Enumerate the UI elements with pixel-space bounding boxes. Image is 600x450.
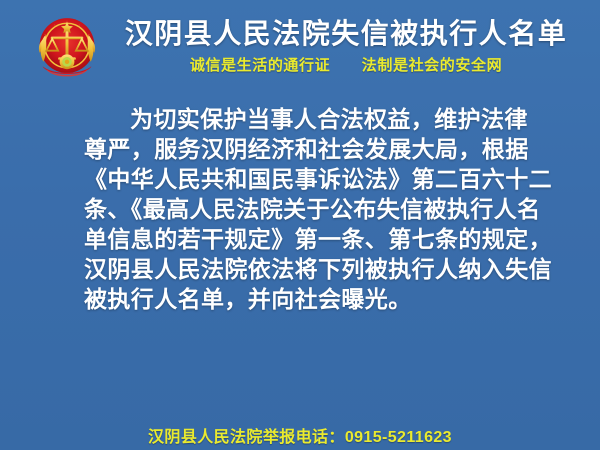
poster-footer: 汉阴县人民法院举报电话：0915-5211623	[0, 426, 600, 450]
body-line: 被执行人名单，并向社会曝光。	[84, 284, 536, 314]
body-line: 汉阴县人民法院依法将下列被执行人纳入失信	[84, 254, 536, 284]
court-emblem	[28, 8, 106, 86]
subtitle-left: 诚信是生活的通行证	[190, 57, 330, 74]
china-court-emblem-icon	[30, 10, 104, 84]
body-line: 尊严，服务汉阴经济和社会发展大局，根据	[84, 134, 536, 164]
body-line: 单信息的若干规定》第一条、第七条的规定，	[84, 224, 536, 254]
notice-poster: 汉阴县人民法院失信被执行人名单 诚信是生活的通行证 法制是社会的安全网 为切实保…	[0, 0, 600, 450]
report-hotline: 汉阴县人民法院举报电话：0915-5211623	[0, 426, 600, 450]
subtitle-right: 法制是社会的安全网	[362, 57, 502, 74]
body-line: 条、《最高人民法院关于公布失信被执行人名	[84, 194, 536, 224]
body-line: 《中华人民共和国民事诉讼法》第二百六十二	[84, 164, 536, 194]
header-text-block: 汉阴县人民法院失信被执行人名单 诚信是生活的通行证 法制是社会的安全网	[106, 18, 600, 74]
notice-body: 为切实保护当事人合法权益，维护法律 尊严，服务汉阴经济和社会发展大局，根据 《中…	[84, 104, 536, 314]
page-title: 汉阴县人民法院失信被执行人名单	[110, 18, 582, 49]
poster-header: 汉阴县人民法院失信被执行人名单 诚信是生活的通行证 法制是社会的安全网	[0, 0, 600, 92]
body-line: 为切实保护当事人合法权益，维护法律	[84, 104, 536, 134]
page-subtitle: 诚信是生活的通行证 法制是社会的安全网	[110, 57, 582, 74]
